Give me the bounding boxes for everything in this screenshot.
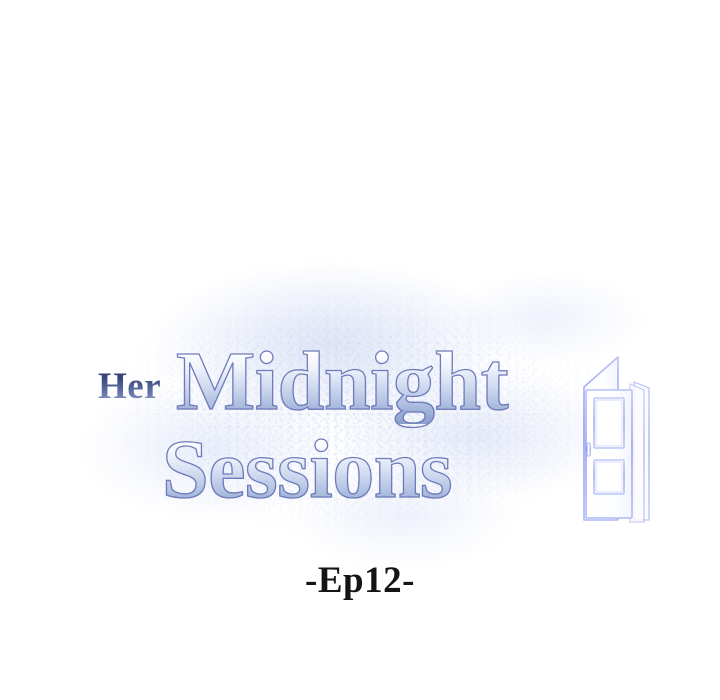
title-word-midnight: Midnight: [176, 340, 508, 424]
title-line-one: Her Midnight: [0, 340, 720, 425]
cover-page: Her Midnight Sessions -Ep12-: [0, 0, 720, 700]
series-title: Her Midnight Sessions: [0, 340, 720, 530]
episode-label: -Ep12-: [0, 562, 720, 599]
title-word-sessions: Sessions: [162, 428, 452, 512]
title-prefix-word: Her: [98, 368, 161, 405]
